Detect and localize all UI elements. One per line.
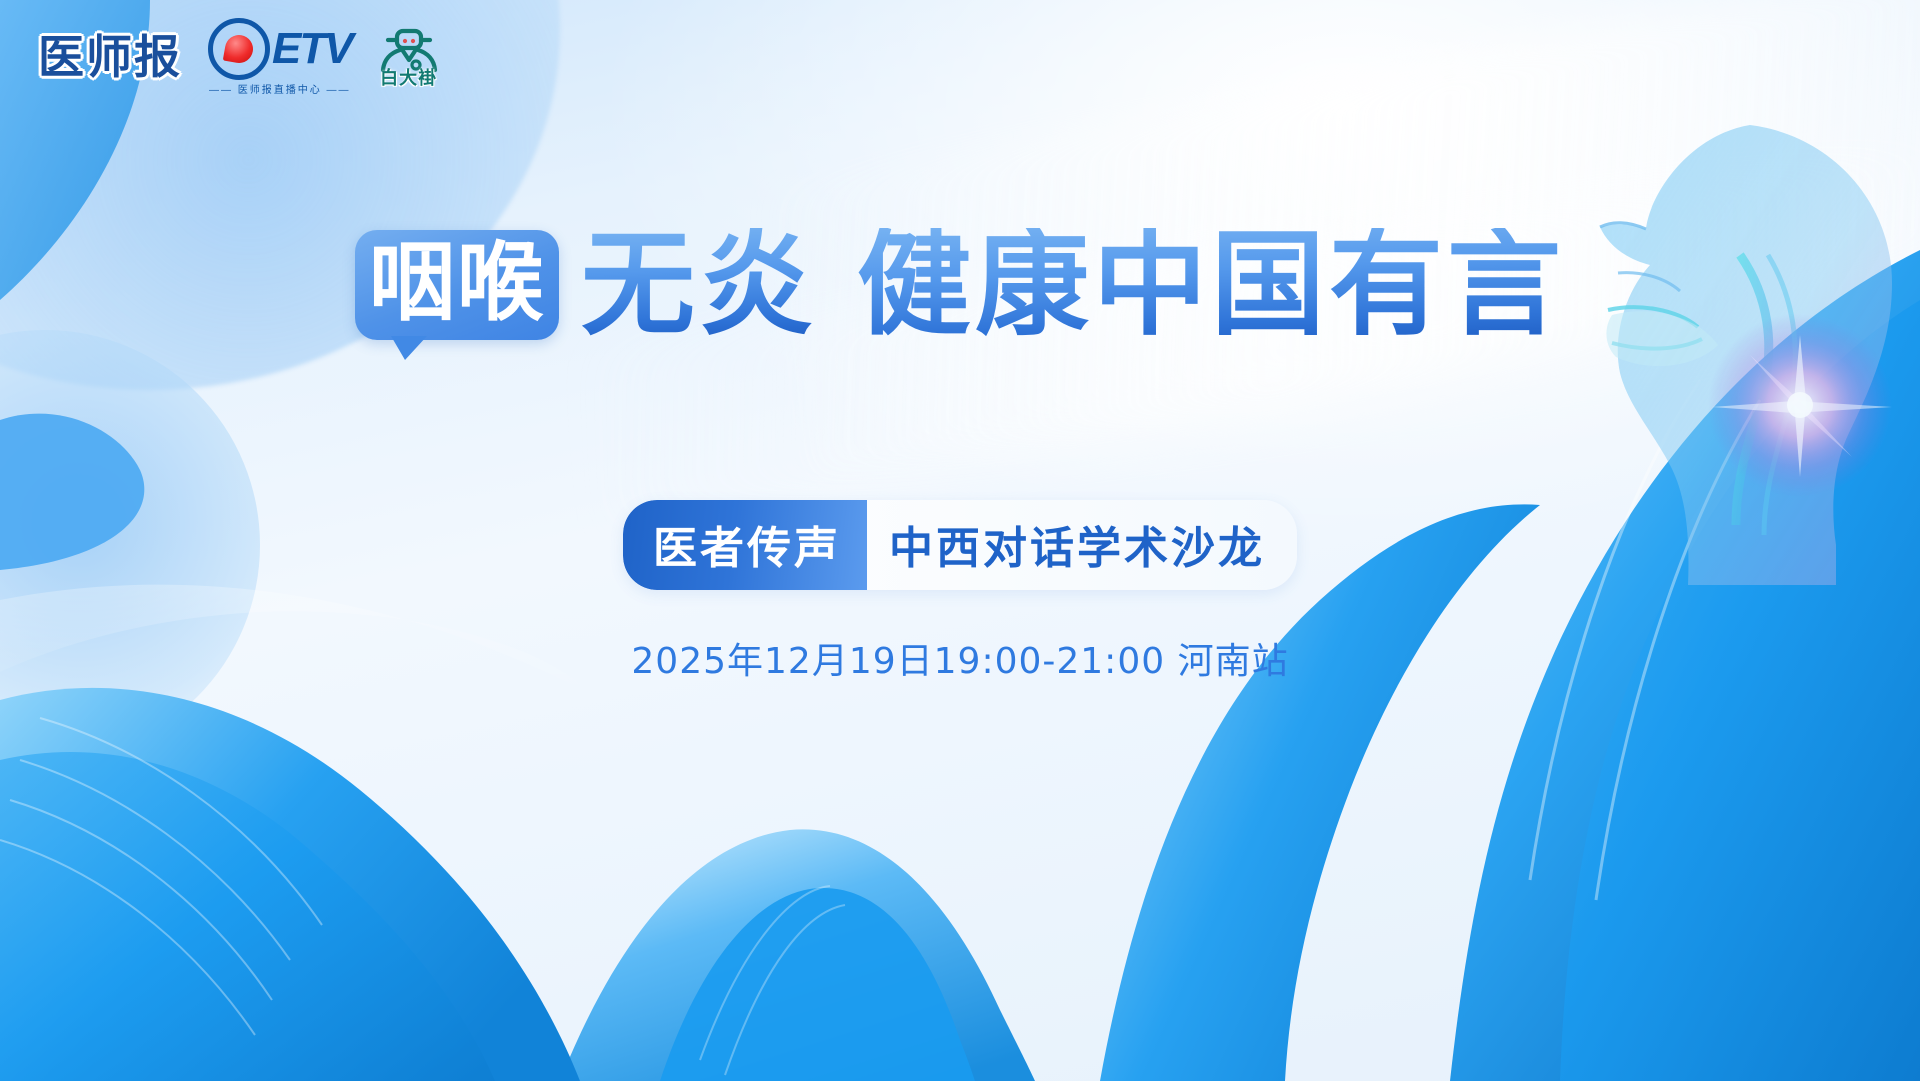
subtitle-tag: 医者传声 bbox=[623, 500, 867, 590]
poster-title: 咽喉 无炎 健康中国有言 bbox=[0, 228, 1920, 342]
title-badge-yanhou: 咽喉 bbox=[355, 230, 559, 340]
play-circle-icon bbox=[208, 18, 270, 80]
title-part-2: 健康中国有言 bbox=[857, 228, 1565, 342]
poster-subtitle: 医者传声 中西对话学术沙龙 bbox=[0, 500, 1920, 590]
subtitle-text: 中西对话学术沙龙 bbox=[867, 500, 1297, 590]
poster-canvas: 医师报 ETV —— 医师报直播中心 —— bbox=[0, 0, 1920, 1081]
logo-etv-mark: ETV bbox=[208, 18, 352, 80]
subtitle-pill: 医者传声 中西对话学术沙龙 bbox=[623, 500, 1297, 590]
logo-etv-text: ETV bbox=[272, 27, 352, 71]
brand-logo-bar: 医师报 ETV —— 医师报直播中心 —— bbox=[38, 18, 440, 96]
logo-yishibao-text: 医师报 bbox=[38, 30, 182, 84]
logo-baidagua[interactable]: 白大褂 bbox=[378, 27, 440, 87]
logo-yishibao[interactable]: 医师报 bbox=[38, 30, 182, 84]
logo-etv-subtext: —— 医师报直播中心 —— bbox=[209, 81, 351, 96]
logo-baidagua-text: 白大褂 bbox=[380, 69, 437, 87]
title-part-1: 无炎 bbox=[581, 228, 817, 342]
logo-etv[interactable]: ETV —— 医师报直播中心 —— bbox=[208, 18, 352, 96]
schedule-text: 2025年12月19日19:00-21:00 河南站 bbox=[631, 641, 1288, 682]
poster-schedule: 2025年12月19日19:00-21:00 河南站 bbox=[0, 632, 1920, 684]
title-badge-text: 咽喉 bbox=[369, 240, 545, 326]
